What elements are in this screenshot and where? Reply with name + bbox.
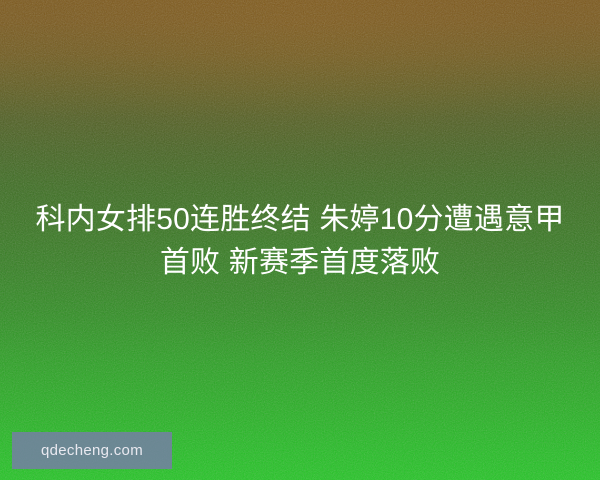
headline-text: 科内女排50连胜终结 朱婷10分遭遇意甲 首败 新赛季首度落败	[0, 198, 600, 284]
watermark-badge: qdecheng.com	[12, 432, 172, 469]
watermark-label: qdecheng.com	[41, 443, 143, 458]
image-canvas: 科内女排50连胜终结 朱婷10分遭遇意甲 首败 新赛季首度落败 qdecheng…	[0, 0, 600, 480]
